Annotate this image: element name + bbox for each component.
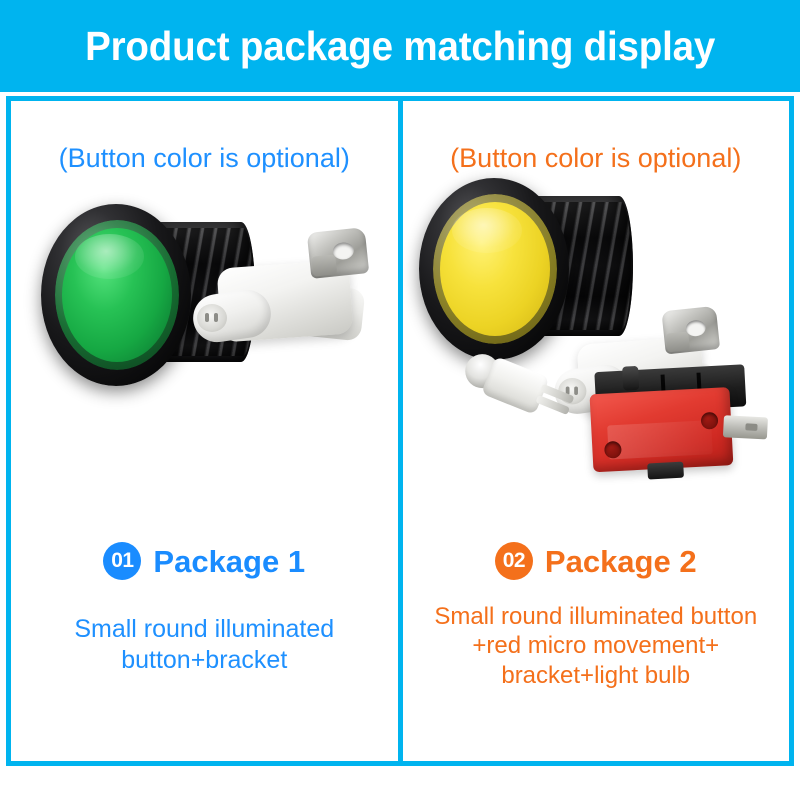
panel-subtitle-right: (Button color is optional): [450, 145, 741, 172]
header-banner: Product package matching display: [0, 0, 800, 92]
package-label-row-1: 01 Package 1: [103, 542, 305, 580]
page-title: Product package matching display: [85, 23, 715, 70]
button-lens-yellow: [433, 194, 557, 344]
panel-package-1: (Button color is optional): [11, 101, 398, 761]
switch-terminal-right: [722, 415, 767, 439]
button-lens-green: [55, 220, 179, 370]
lens-highlight: [75, 234, 144, 279]
panels-frame: (Button color is optional): [6, 96, 794, 766]
red-micro-switch: [588, 364, 761, 479]
product-photo-package-1: [11, 176, 398, 536]
product-package-poster: Product package matching display (Button…: [0, 0, 800, 800]
tab-fold: [665, 331, 689, 352]
panel-package-2: (Button color is optional): [403, 101, 790, 761]
panel-subtitle-left: (Button color is optional): [59, 145, 350, 172]
button-bezel: [419, 178, 569, 360]
package-title-1: Package 1: [153, 546, 305, 577]
bracket-metal-tab: [307, 227, 369, 279]
white-bracket-package-1: [189, 230, 379, 380]
switch-mount-hole: [700, 412, 718, 430]
package-label-row-2: 02 Package 2: [495, 542, 697, 580]
lens-highlight: [452, 208, 521, 253]
button-bezel: [41, 204, 191, 386]
switch-red-body: [589, 387, 733, 472]
package-badge-01: 01: [103, 542, 141, 580]
switch-mount-hole: [603, 441, 621, 459]
switch-molded-marking: [607, 420, 713, 459]
package-badge-02: 02: [495, 542, 533, 580]
tab-fold: [311, 254, 337, 276]
product-photo-package-2: [403, 176, 790, 536]
package-description-2: Small round illuminated button +red micr…: [424, 602, 767, 690]
switch-lever: [622, 366, 639, 391]
package-title-2: Package 2: [545, 546, 697, 577]
package-description-1: Small round illuminated button+bracket: [64, 614, 344, 675]
bracket-metal-tab: [661, 306, 720, 355]
switch-terminal-bottom: [647, 462, 684, 480]
bracket-lamp-socket: [197, 304, 227, 332]
